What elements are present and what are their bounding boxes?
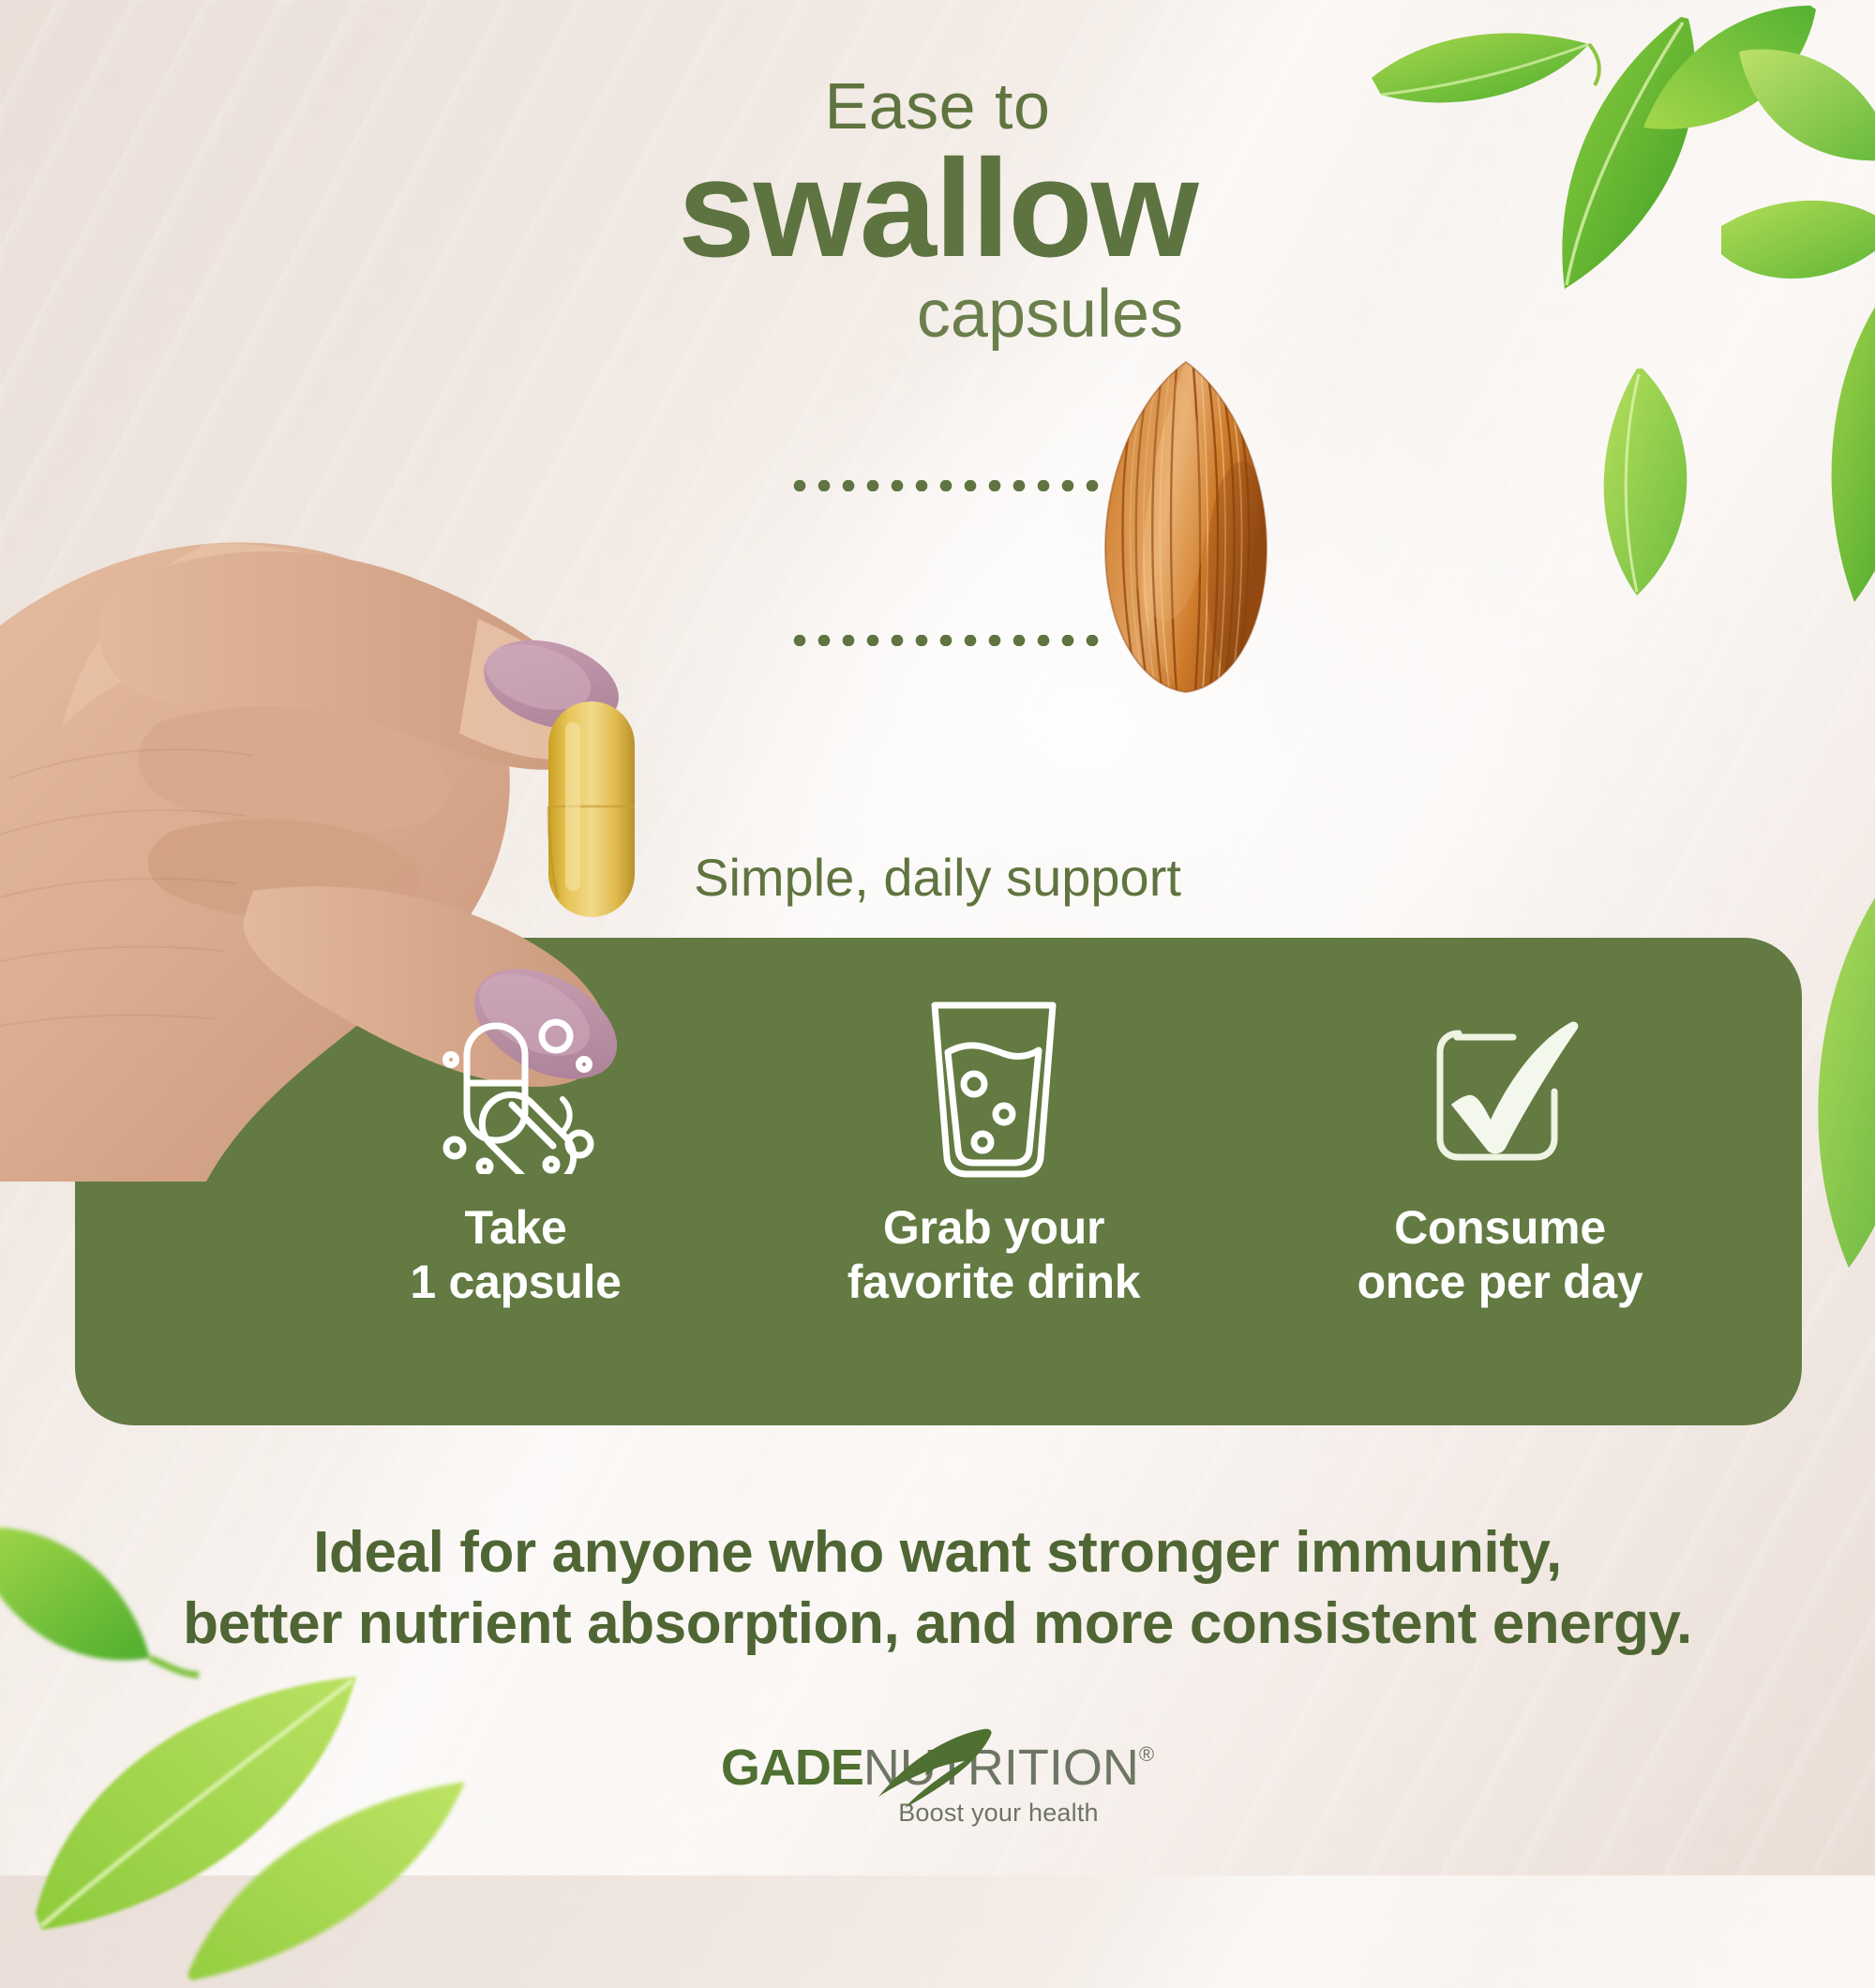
step-item-grab-drink: Grab your favorite drink <box>750 938 1237 1309</box>
logo-brand-name: GADE <box>721 1742 863 1793</box>
step-item-take-capsule: Take 1 capsule <box>281 938 750 1309</box>
leaf-decoration-right-edge <box>1791 881 1875 1275</box>
almond-image <box>1092 358 1280 696</box>
step-label: Take 1 capsule <box>410 1200 621 1309</box>
step-label: Grab your favorite drink <box>847 1200 1141 1309</box>
step-label-line1: Take <box>464 1201 566 1254</box>
header-subtitle: capsules <box>0 280 1875 348</box>
registered-trademark-icon: ® <box>1139 1744 1154 1765</box>
leaf-decoration-top-right-6 <box>1584 361 1748 605</box>
step-label-line2: once per day <box>1357 1256 1643 1308</box>
step-label-line2: favorite drink <box>847 1256 1141 1308</box>
brand-logo: GADE NUTRITION ® Boost your health <box>0 1742 1875 1828</box>
logo-wordmark: GADE NUTRITION ® <box>721 1742 1154 1793</box>
step-label-line2: 1 capsule <box>410 1256 621 1308</box>
benefits-tagline: Ideal for anyone who want stronger immun… <box>94 1517 1781 1659</box>
support-subline: Simple, daily support <box>337 847 1537 908</box>
capsule-pills-icon <box>431 996 600 1183</box>
connector-dots-bottom <box>787 635 1102 646</box>
water-glass-icon <box>919 996 1069 1183</box>
step-label: Consume once per day <box>1357 1200 1643 1309</box>
page-title: swallow <box>0 141 1875 277</box>
step-label-line1: Grab your <box>883 1201 1104 1254</box>
steps-panel-content: Take 1 capsule Grab your favorite drink <box>75 938 1802 1425</box>
leaf-swoosh-icon <box>863 1725 995 1812</box>
checkbox-check-icon <box>1416 996 1584 1183</box>
header-eyebrow: Ease to <box>0 73 1875 139</box>
step-label-line1: Consume <box>1394 1201 1606 1254</box>
tagline-line1: Ideal for anyone who want stronger immun… <box>313 1520 1562 1585</box>
connector-dots-top <box>787 480 1102 491</box>
step-item-consume-daily: Consume once per day <box>1237 938 1762 1309</box>
page-header: Ease to swallow capsules <box>0 73 1875 348</box>
tagline-line2: better nutrient absorption, and more con… <box>183 1591 1692 1656</box>
